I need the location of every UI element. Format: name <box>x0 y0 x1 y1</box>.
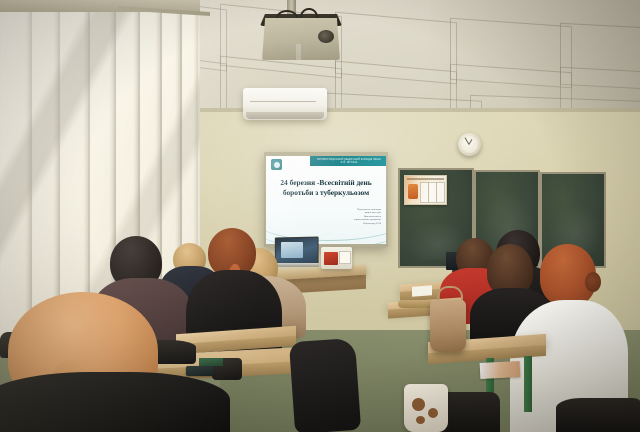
air-conditioner-seam <box>250 101 316 102</box>
paper-sheet <box>412 285 432 296</box>
desk-leg <box>524 356 532 412</box>
projected-slide: КІРОВОГРАДСЬКИЙ МЕДИЧНИЙ КОЛЕДЖ ІМЕНІ Є.… <box>266 156 386 244</box>
smartphone-on-desk <box>186 366 214 376</box>
projector-seam <box>296 44 301 60</box>
slide-glare <box>266 156 386 244</box>
white-patterned-bag <box>404 384 448 432</box>
printer-red-panel <box>324 252 338 265</box>
clock-face <box>461 136 478 153</box>
anatomy-poster <box>404 175 447 205</box>
black-backpack <box>289 338 361 432</box>
laptop-base <box>272 263 320 267</box>
tan-handbag <box>430 300 466 352</box>
notebook <box>199 358 223 366</box>
printer-paper <box>339 251 351 264</box>
laptop-screen-content <box>281 242 303 258</box>
chair-back-right <box>398 300 434 308</box>
classroom-photo: КІРОВОГРАДСЬКИЙ МЕДИЧНИЙ КОЛЕДЖ ІМЕНІ Є.… <box>0 0 640 432</box>
shirt-print <box>20 398 140 430</box>
student-lap-dark <box>556 398 640 432</box>
air-conditioner-vent <box>246 112 324 119</box>
colour-leaflet-right <box>480 361 521 379</box>
projector-lens <box>318 30 334 43</box>
hair-bun <box>585 272 601 292</box>
